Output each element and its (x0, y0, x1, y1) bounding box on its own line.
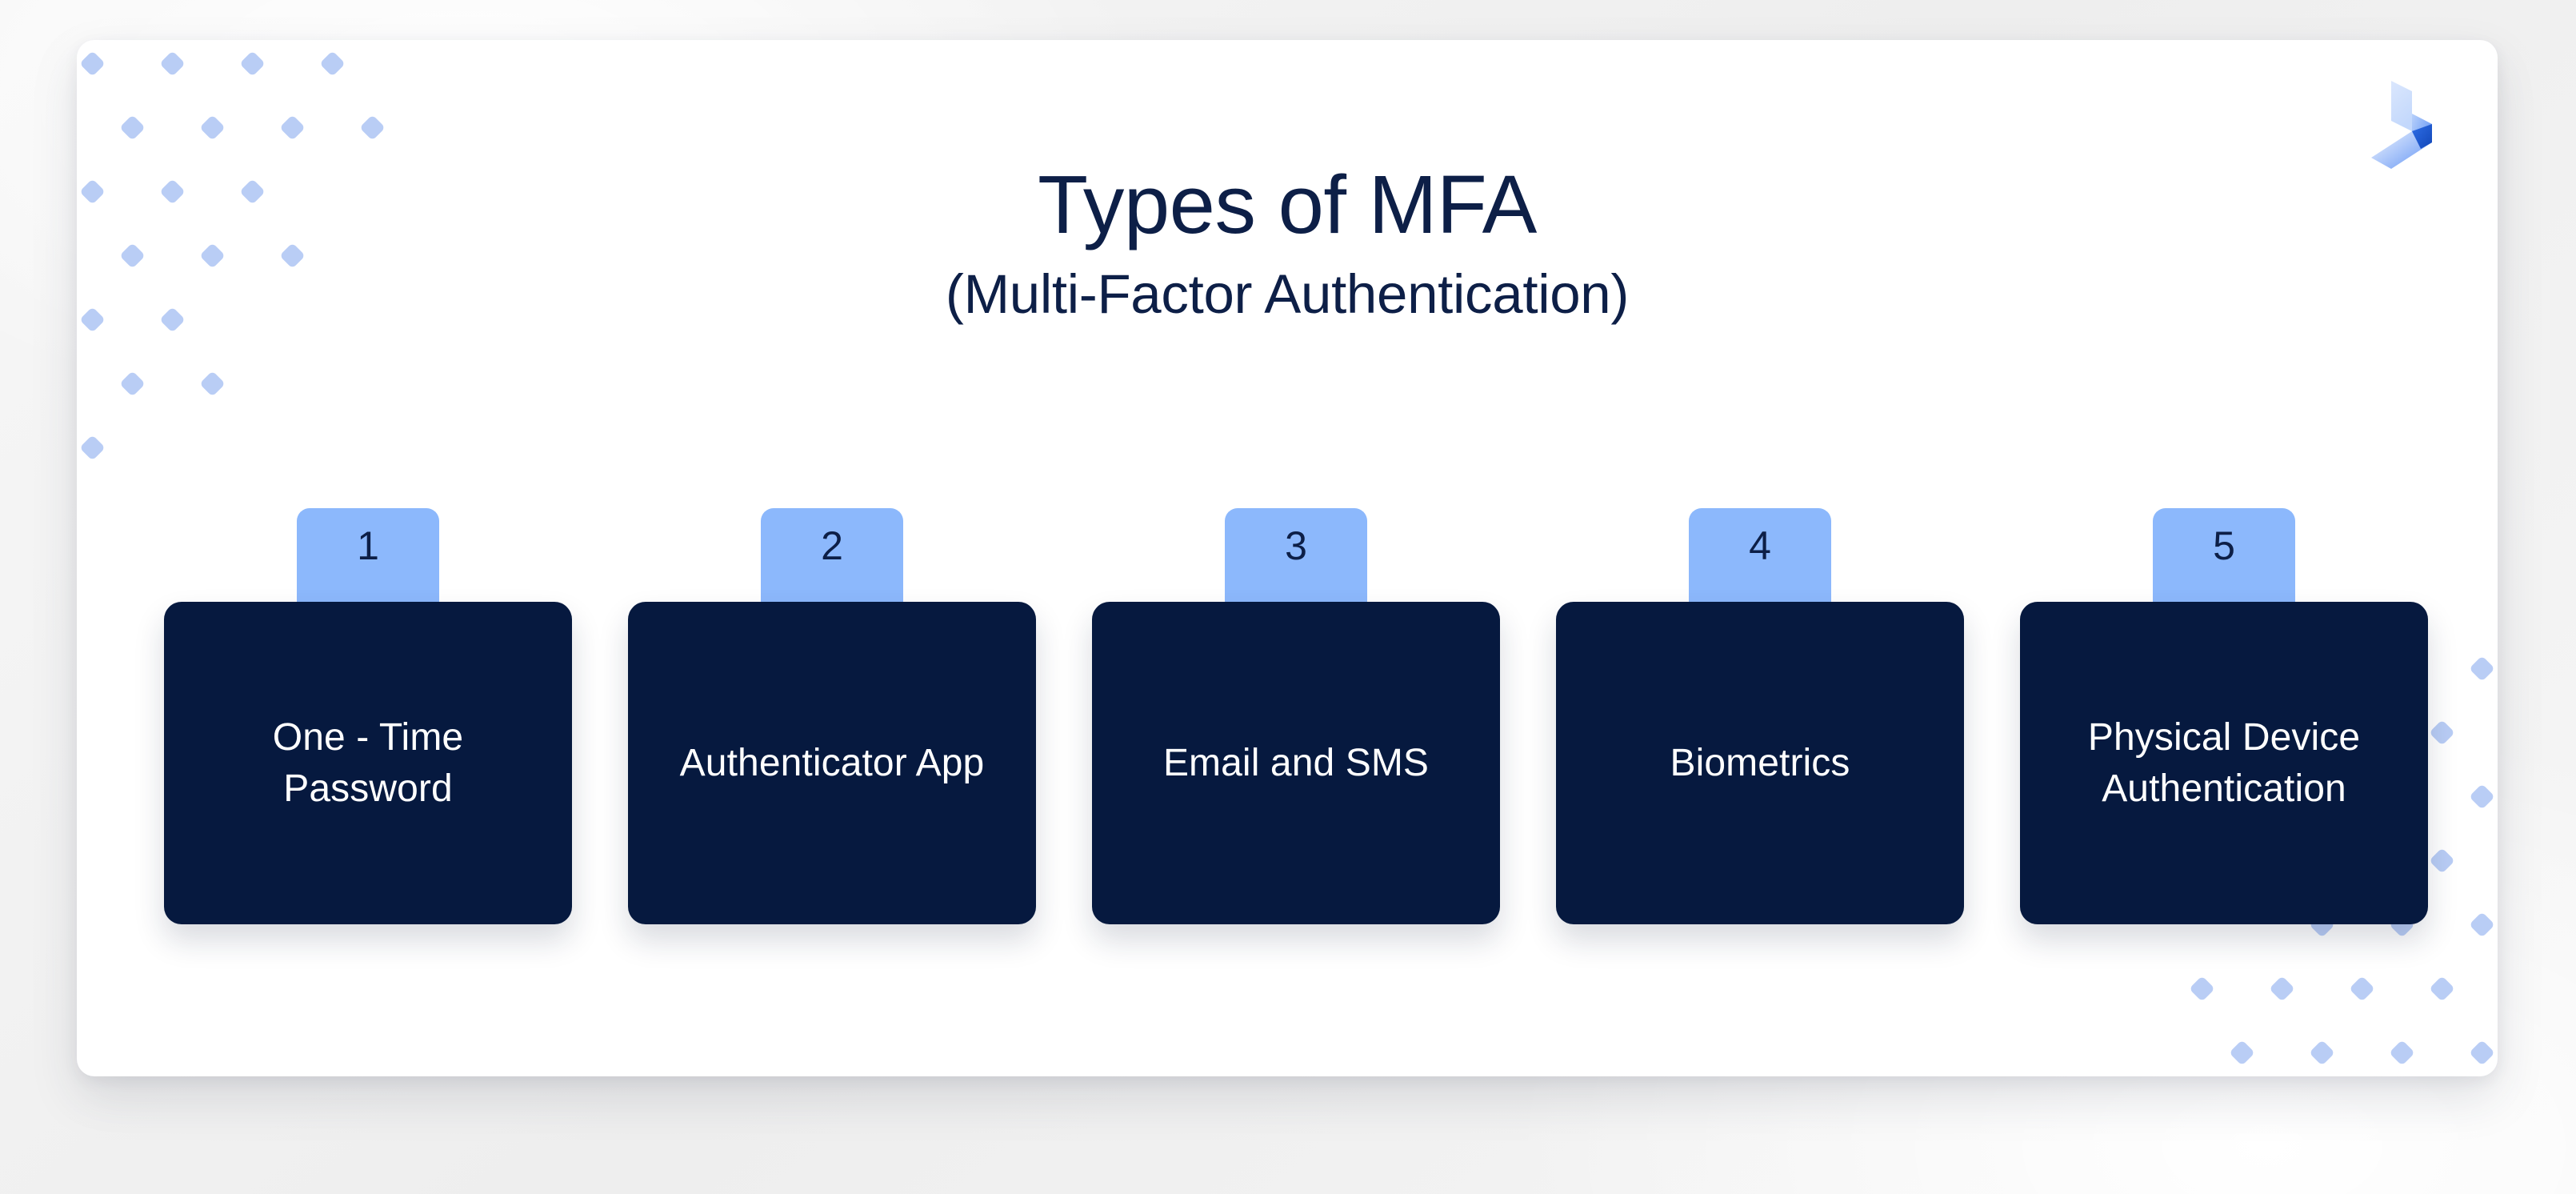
card-number-label: 3 (1285, 526, 1307, 566)
card-body-4[interactable]: Biometrics (1556, 602, 1964, 924)
decorative-dot (119, 114, 146, 141)
card-number-label: 4 (1749, 526, 1771, 566)
decorative-dot (2349, 976, 2375, 1002)
card-label: Authenticator App (680, 738, 985, 788)
card-label: Biometrics (1670, 738, 1850, 788)
decorative-dot (279, 114, 306, 141)
card-body-5[interactable]: Physical Device Authentication (2020, 602, 2428, 924)
decorative-dot (2429, 847, 2455, 874)
decorative-dot (2229, 1040, 2255, 1066)
page-subtitle: (Multi-Factor Authentication) (77, 262, 2498, 328)
decorative-dot (2269, 976, 2295, 1002)
decorative-dot (199, 371, 226, 397)
card-body-3[interactable]: Email and SMS (1092, 602, 1500, 924)
card-number-label: 1 (357, 526, 379, 566)
decorative-dot (2429, 976, 2455, 1002)
decorative-dot (2429, 719, 2455, 746)
card-label: Physical Device Authentication (2041, 712, 2407, 814)
decorative-dot (2469, 1040, 2495, 1066)
decorative-dot (2469, 783, 2495, 810)
decorative-dot (239, 50, 266, 77)
card-body-1[interactable]: One - Time Password (164, 602, 572, 924)
decorative-dot (2469, 655, 2495, 682)
card-number-label: 5 (2213, 526, 2235, 566)
mfa-types-card-row: 1 One - Time Password 2 Authenticator Ap… (164, 508, 2410, 924)
slide-card: Types of MFA (Multi-Factor Authenticatio… (77, 40, 2498, 1076)
card-number-label: 2 (821, 526, 843, 566)
decorative-dot (2469, 912, 2495, 938)
decorative-dot (159, 50, 186, 77)
decorative-dot (79, 435, 106, 461)
title-block: Types of MFA (Multi-Factor Authenticatio… (77, 158, 2498, 328)
card-body-2[interactable]: Authenticator App (628, 602, 1036, 924)
decorative-dot (2389, 1040, 2415, 1066)
mfa-card-4[interactable]: 4 Biometrics (1556, 508, 1964, 924)
mfa-card-1[interactable]: 1 One - Time Password (164, 508, 572, 924)
decorative-dot (79, 50, 106, 77)
mfa-card-3[interactable]: 3 Email and SMS (1092, 508, 1500, 924)
decorative-dot (2309, 1040, 2335, 1066)
page-title: Types of MFA (77, 158, 2498, 250)
decorative-dot (359, 114, 386, 141)
mfa-card-5[interactable]: 5 Physical Device Authentication (2020, 508, 2428, 924)
card-label: Email and SMS (1163, 738, 1429, 788)
decorative-dot (119, 371, 146, 397)
decorative-dot (199, 114, 226, 141)
decorative-dot (319, 50, 346, 77)
decorative-dot (2189, 976, 2215, 1002)
mfa-card-2[interactable]: 2 Authenticator App (628, 508, 1036, 924)
card-label: One - Time Password (185, 712, 551, 814)
